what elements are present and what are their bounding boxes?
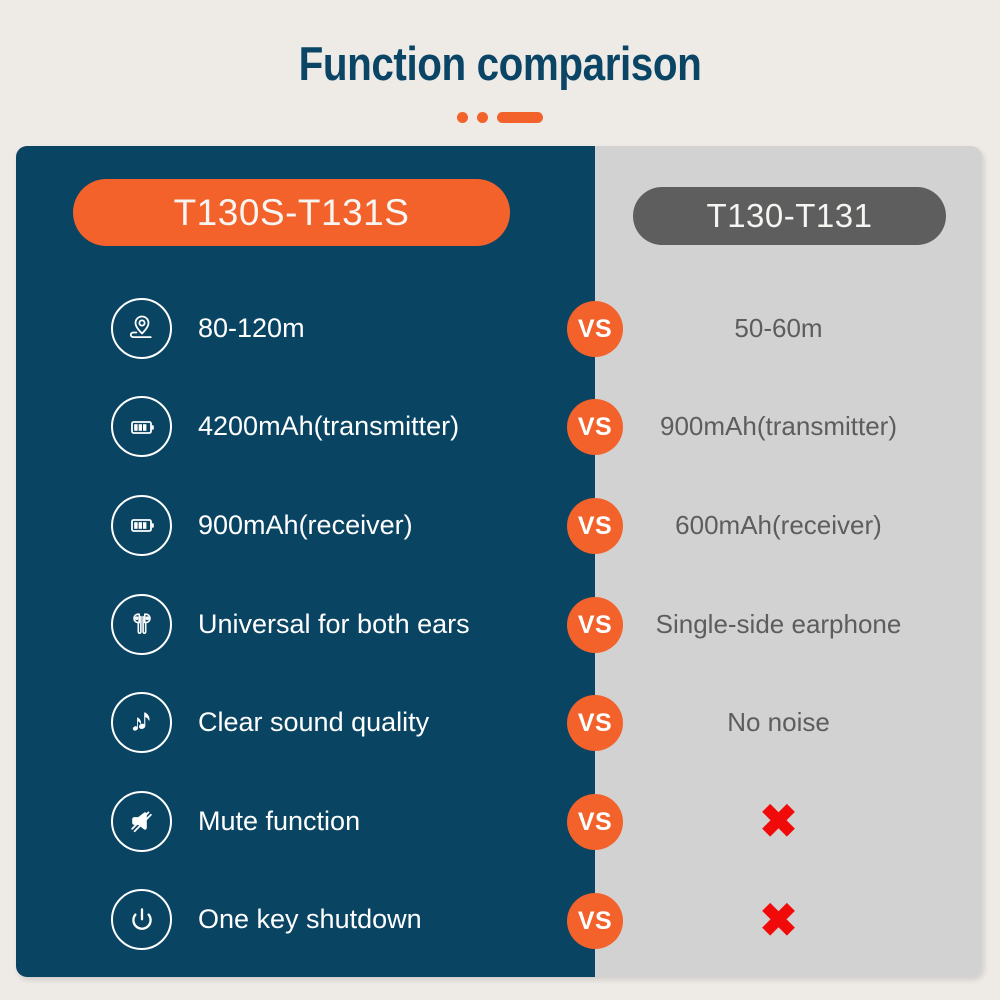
feature-label: One key shutdown xyxy=(198,904,422,935)
value-text: Single-side earphone xyxy=(656,609,902,640)
left-product-pill[interactable]: T130S-T131S xyxy=(73,179,510,246)
value-row: ✖ xyxy=(595,772,982,871)
page-header: Function comparison xyxy=(0,0,1000,146)
value-text: No noise xyxy=(727,707,830,738)
value-row: 900mAh(transmitter) xyxy=(595,378,982,477)
feature-label: Universal for both ears xyxy=(198,609,470,640)
power-icon xyxy=(111,889,172,950)
comparison-card: T130S-T131S 80-120m xyxy=(16,146,982,977)
page-title: Function comparison xyxy=(70,36,930,91)
music-note-icon xyxy=(111,692,172,753)
cross-mark-icon: ✖ xyxy=(759,798,798,844)
value-row: ✖ xyxy=(595,871,982,970)
value-text: 900mAh(transmitter) xyxy=(660,411,897,442)
left-feature-list: 80-120m 4200mAh(transmitter) xyxy=(16,279,595,969)
value-text: 600mAh(receiver) xyxy=(675,510,882,541)
decoration-bar-icon xyxy=(497,112,543,123)
value-row: 600mAh(receiver) xyxy=(595,476,982,575)
value-row: No noise xyxy=(595,673,982,772)
decoration-dot-icon xyxy=(457,112,468,123)
feature-label: 80-120m xyxy=(198,313,305,344)
value-row: 50-60m xyxy=(595,279,982,378)
location-pin-icon xyxy=(111,298,172,359)
feature-label: 4200mAh(transmitter) xyxy=(198,411,459,442)
feature-row: Clear sound quality xyxy=(16,673,595,772)
title-decoration xyxy=(457,112,543,123)
feature-row: 4200mAh(transmitter) xyxy=(16,378,595,477)
feature-row: Universal for both ears xyxy=(16,575,595,674)
feature-row: Mute function xyxy=(16,772,595,871)
feature-row: 80-120m xyxy=(16,279,595,378)
right-product-panel: T130-T131 50-60m 900mAh(transmitter) 600… xyxy=(595,146,982,977)
battery-full-icon xyxy=(111,396,172,457)
value-row: Single-side earphone xyxy=(595,575,982,674)
battery-full-icon xyxy=(111,495,172,556)
decoration-dot-icon xyxy=(477,112,488,123)
feature-label: 900mAh(receiver) xyxy=(198,510,413,541)
left-product-panel: T130S-T131S 80-120m xyxy=(16,146,595,977)
right-product-pill[interactable]: T130-T131 xyxy=(633,187,946,245)
feature-row: 900mAh(receiver) xyxy=(16,476,595,575)
earbuds-icon xyxy=(111,594,172,655)
mute-speaker-icon xyxy=(111,791,172,852)
feature-label: Mute function xyxy=(198,806,360,837)
feature-label: Clear sound quality xyxy=(198,707,429,738)
feature-row: One key shutdown xyxy=(16,871,595,970)
value-text: 50-60m xyxy=(734,313,822,344)
right-value-list: 50-60m 900mAh(transmitter) 600mAh(receiv… xyxy=(595,279,982,969)
cross-mark-icon: ✖ xyxy=(759,897,798,943)
